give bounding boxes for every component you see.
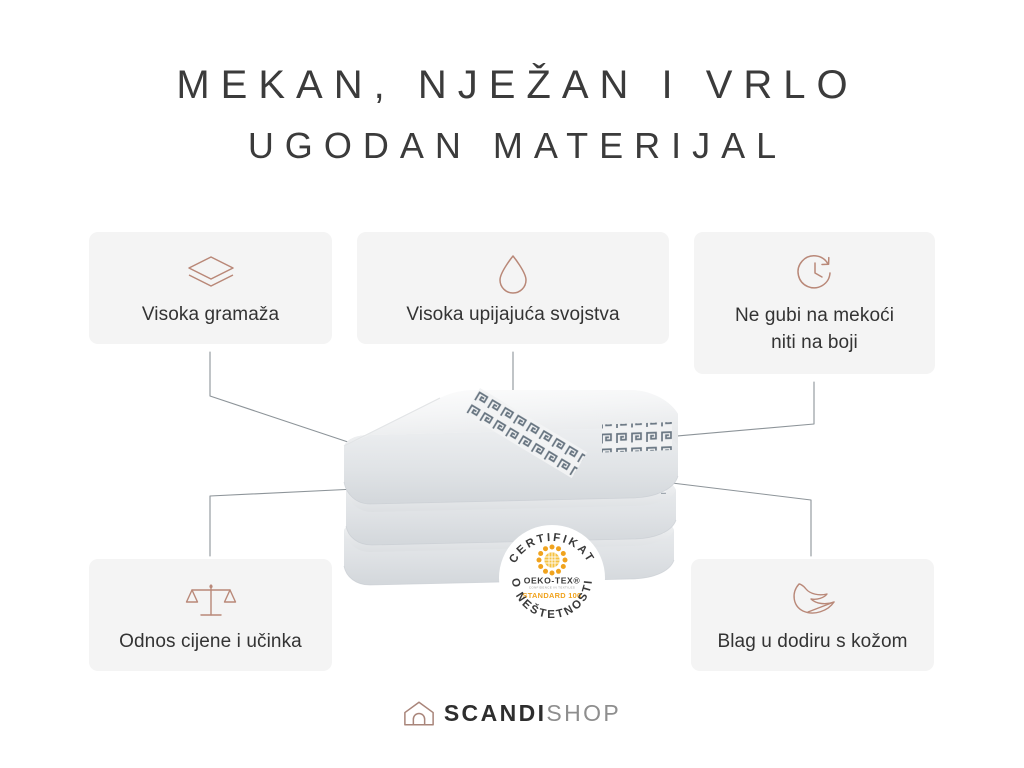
- feather-icon: [786, 577, 840, 623]
- badge-center-subtitle: CONFIDENCE IN TEXTILES: [529, 586, 575, 590]
- badge-center-title: OEKO-TEX®: [524, 576, 581, 586]
- towel-border-top-side: [602, 422, 672, 452]
- feature-card-koza-label: Blag u dodiru s kožom: [707, 629, 917, 654]
- oeko-tex-certificate-badge: OEKO-TEX® CONFIDENCE IN TEXTILES STANDAR…: [498, 524, 606, 632]
- badge-center-standard: STANDARD 100: [523, 591, 582, 600]
- clock-rotate-icon: [792, 250, 838, 296]
- feature-card-mekoca-label-line1: Ne gubi na mekoći: [735, 305, 894, 326]
- page-title-line-2: UGODAN MATERIJAL: [0, 120, 1024, 172]
- page-title: MEKAN, NJEŽAN I VRLO UGODAN MATERIJAL: [0, 58, 1024, 172]
- balance-scale-icon: [185, 577, 237, 623]
- brand-name-light: SHOP: [546, 700, 621, 727]
- page-title-line-1: MEKAN, NJEŽAN I VRLO: [0, 58, 1024, 112]
- infographic-canvas: MEKAN, NJEŽAN I VRLO UGODAN MATERIJAL: [0, 0, 1024, 768]
- feature-card-koza[interactable]: Blag u dodiru s kožom: [691, 559, 934, 671]
- water-drop-icon: [493, 250, 533, 296]
- feature-card-upijanje[interactable]: Visoka upijajuća svojstva: [357, 232, 669, 344]
- feature-card-cijena-label: Odnos cijene i učinka: [109, 629, 312, 654]
- feature-card-mekoca-label: Ne gubi na mekoći niti na boji: [725, 302, 904, 356]
- house-icon: [403, 700, 435, 727]
- feature-card-mekoca-label-line2: niti na boji: [771, 332, 858, 353]
- brand-logo: SCANDI SHOP: [0, 700, 1024, 727]
- brand-name-strong: SCANDI: [444, 700, 547, 727]
- feature-card-upijanje-label: Visoka upijajuća svojstva: [396, 302, 629, 327]
- feature-card-cijena[interactable]: Odnos cijene i učinka: [89, 559, 332, 671]
- brand-name: SCANDI SHOP: [444, 700, 621, 727]
- layers-icon: [183, 250, 239, 296]
- feature-card-gramaza-label: Visoka gramaža: [132, 302, 289, 327]
- feature-card-mekoca[interactable]: Ne gubi na mekoći niti na boji: [694, 232, 935, 374]
- towel-top: [344, 388, 678, 504]
- feature-card-gramaza[interactable]: Visoka gramaža: [89, 232, 332, 344]
